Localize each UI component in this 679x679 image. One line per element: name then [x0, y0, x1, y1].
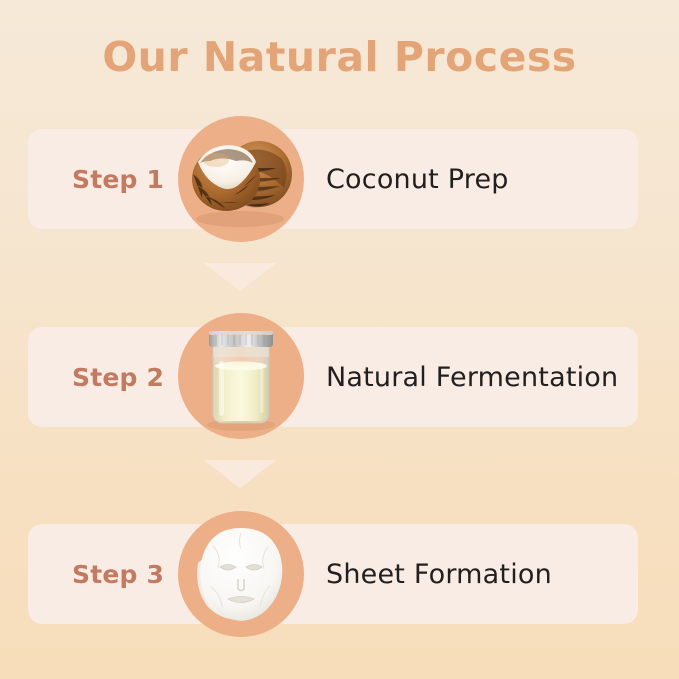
mason-jar-icon: [178, 313, 304, 439]
page-title: Our Natural Process: [0, 33, 679, 81]
step-text-3: Sheet Formation: [326, 524, 552, 624]
step-text-1: Coconut Prep: [326, 129, 509, 229]
step-row-1: Step 1 Coconut Prep: [28, 129, 638, 229]
arrow-step1-to-step2: [204, 262, 276, 292]
step-image-circle-3: [178, 511, 304, 637]
step-row-2: Step 2 Natural Fermentation: [28, 327, 638, 427]
sheet-mask-icon: [178, 511, 304, 637]
chevron-down-icon: [204, 262, 276, 292]
step-text-2: Natural Fermentation: [326, 327, 618, 427]
step-row-3: Step 3 Sheet Formation: [28, 524, 638, 624]
step-image-circle-1: [178, 116, 304, 242]
arrow-step2-to-step3: [204, 459, 276, 489]
infographic-page: Our Natural Process Step 1 Coconut Prep: [0, 0, 679, 679]
chevron-down-icon: [204, 459, 276, 489]
coconut-halves-icon: [178, 116, 304, 242]
step-image-circle-2: [178, 313, 304, 439]
